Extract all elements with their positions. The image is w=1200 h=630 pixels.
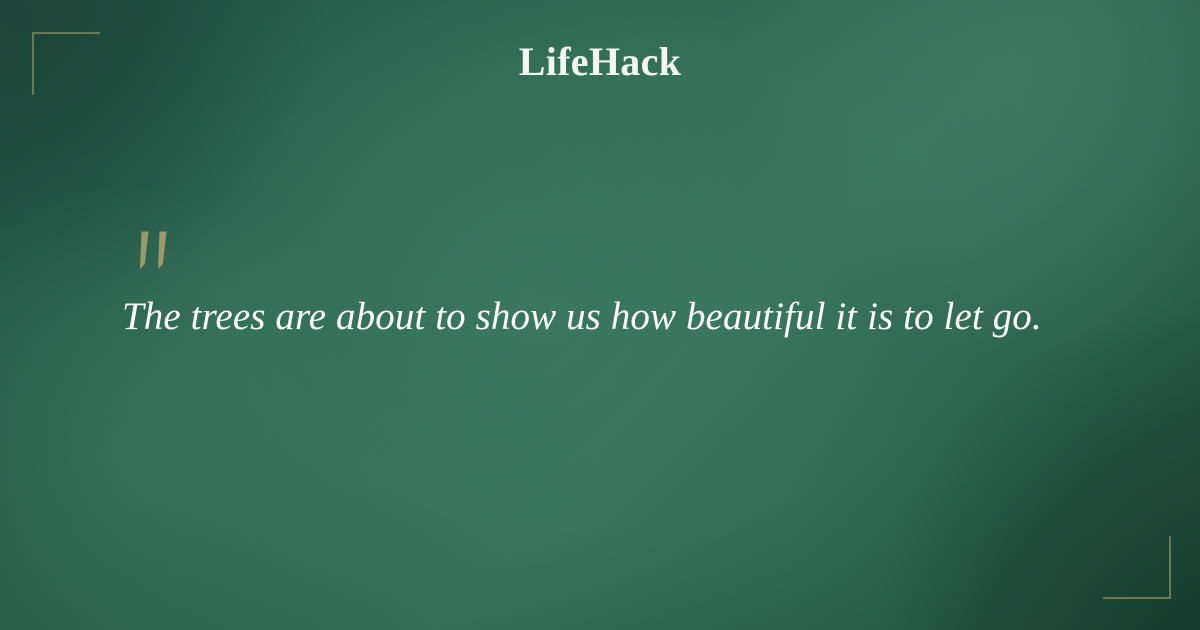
brand-logo: LifeHack [0, 38, 1200, 85]
quotation-mark-icon [133, 230, 179, 272]
quote-card: LifeHack The trees are about to show us … [0, 0, 1200, 630]
corner-bracket-bottom-right-icon [1103, 536, 1171, 599]
quote-text: The trees are about to show us how beaut… [122, 293, 1102, 342]
